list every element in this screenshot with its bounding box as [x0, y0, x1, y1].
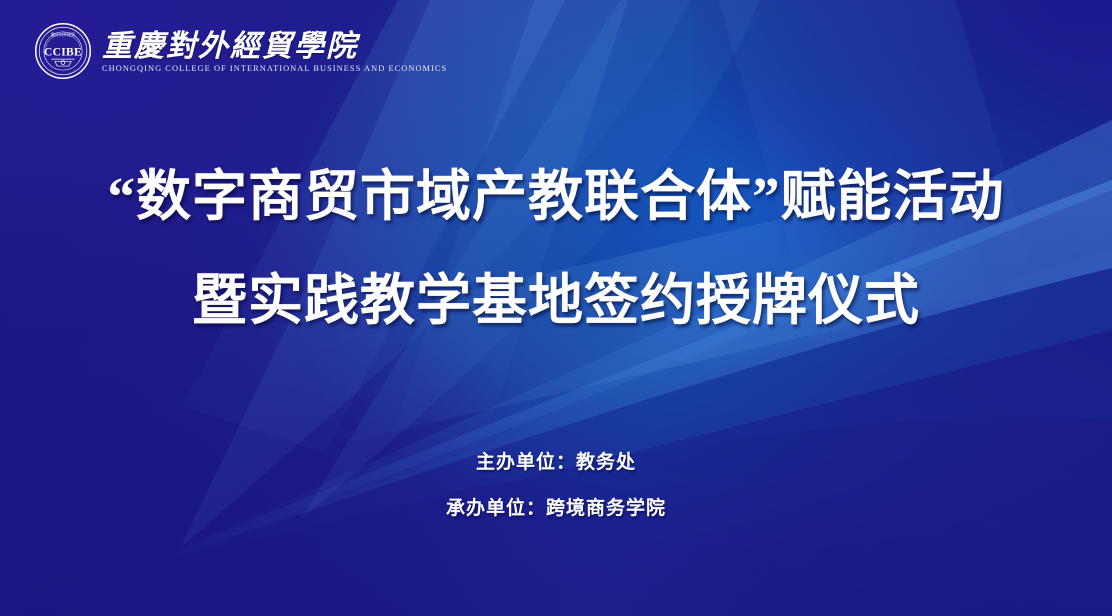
svg-text:重庆对外经贸: 重庆对外经贸	[51, 31, 75, 37]
logo-english-name: CHONGQING COLLEGE OF INTERNATIONAL BUSIN…	[102, 65, 447, 73]
slide-title-line-1: “数字商贸市域产教联合体”赋能活动	[0, 152, 1112, 242]
logo-chinese-name: 重慶對外經貿學院	[102, 31, 447, 63]
slide-title-block: “数字商贸市域产教联合体”赋能活动 暨实践教学基地签约授牌仪式	[0, 152, 1112, 346]
ccibe-seal-icon: 重庆对外经贸 CCIBE	[34, 22, 92, 80]
organizer-block: 主办单位：教务处 承办单位：跨境商务学院	[0, 452, 1112, 520]
slide-title-line-2: 暨实践教学基地签约授牌仪式	[0, 256, 1112, 346]
logo-wordmark: 重慶對外經貿學院 CHONGQING COLLEGE OF INTERNATIO…	[102, 29, 447, 74]
host-organization: 主办单位：教务处	[0, 452, 1112, 474]
presentation-slide: 重庆对外经贸 CCIBE 重慶對外經貿學院 CHONGQING COLLEGE …	[0, 0, 1112, 616]
university-logo: 重庆对外经贸 CCIBE 重慶對外經貿學院 CHONGQING COLLEGE …	[34, 22, 447, 80]
svg-text:CCIBE: CCIBE	[44, 46, 82, 59]
co-organizer-organization: 承办单位：跨境商务学院	[0, 498, 1112, 520]
